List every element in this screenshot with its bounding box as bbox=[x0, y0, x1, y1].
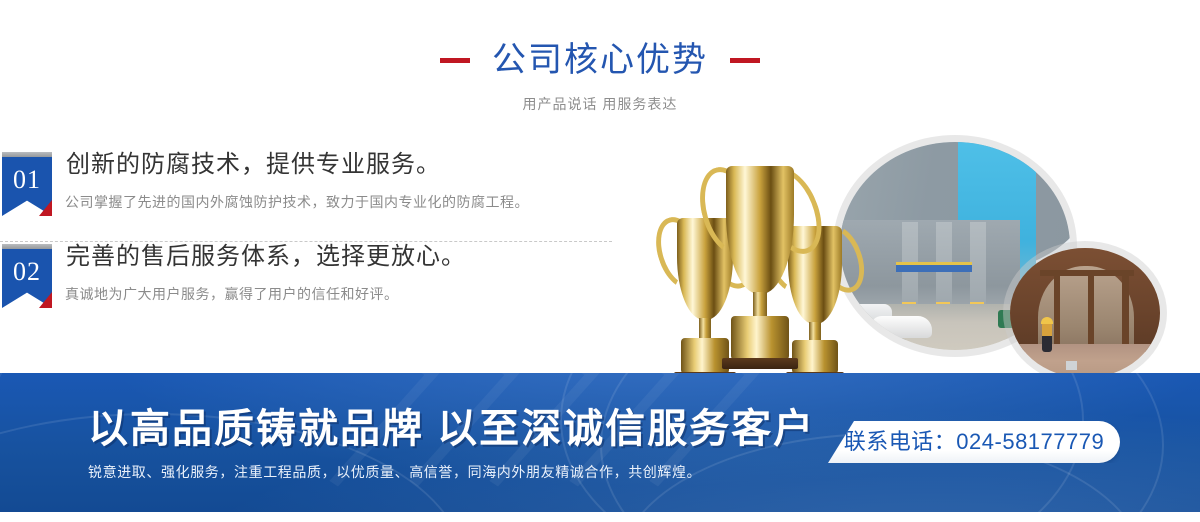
advantages-artwork bbox=[640, 120, 1200, 382]
title-row: 公司核心优势 bbox=[0, 40, 1200, 80]
banner-slogan: 以高品质铸就品牌 以至深诚信服务客户 bbox=[88, 406, 815, 452]
dash-left-icon bbox=[440, 58, 470, 63]
section-header: 公司核心优势 用产品说话 用服务表达 bbox=[0, 40, 1200, 114]
contact-phone-pill[interactable]: 联系电话：024-58177779 bbox=[828, 421, 1120, 463]
company-advantages-section: 公司核心优势 用产品说话 用服务表达 01 创新的防腐技术，提供专业服务。 公司… bbox=[0, 0, 1200, 522]
banner-subtitle: 锐意进取、强化服务，注重工程品质，以优质量、高信誉，同海内外朋友精诚合作，共创辉… bbox=[88, 462, 701, 482]
contact-phone-label: 联系电话： bbox=[844, 429, 957, 454]
trophy-base bbox=[731, 316, 789, 360]
trophy-cup bbox=[726, 166, 794, 294]
feature-description: 公司掌握了先进的国内外腐蚀防护技术，致力于国内专业化的防腐工程。 bbox=[65, 192, 529, 212]
feature-item-02: 02 完善的售后服务体系，选择更放心。 真诚地为广大用户服务，赢得了用户的信任和… bbox=[0, 242, 660, 334]
photo-post bbox=[1054, 276, 1060, 350]
photo-walkway bbox=[896, 262, 972, 272]
contact-phone-text: 联系电话：024-58177779 bbox=[844, 429, 1104, 455]
ribbon-badge-01: 01 bbox=[2, 152, 52, 216]
section-subtitle: 用产品说话 用服务表达 bbox=[0, 94, 1200, 114]
feature-list: 01 创新的防腐技术，提供专业服务。 公司掌握了先进的国内外腐蚀防护技术，致力于… bbox=[0, 150, 660, 334]
badge-number: 02 bbox=[2, 250, 52, 294]
dash-right-icon bbox=[730, 58, 760, 63]
photo-helmet bbox=[1041, 317, 1053, 324]
gold-trophies bbox=[654, 130, 864, 382]
feature-title: 创新的防腐技术，提供专业服务。 bbox=[66, 150, 441, 180]
trophy-stem bbox=[753, 292, 767, 318]
trophy-plinth bbox=[722, 358, 798, 369]
feature-item-01: 01 创新的防腐技术，提供专业服务。 公司掌握了先进的国内外腐蚀防护技术，致力于… bbox=[0, 150, 660, 242]
photo-post bbox=[1088, 276, 1094, 350]
photo-bucket bbox=[1066, 361, 1077, 370]
photo-car bbox=[870, 316, 932, 338]
feature-title: 完善的售后服务体系，选择更放心。 bbox=[66, 242, 466, 272]
contact-phone-number: 024-58177779 bbox=[956, 429, 1104, 454]
photo-worker bbox=[1042, 322, 1052, 352]
trophy-center bbox=[710, 142, 810, 382]
badge-triangle-icon bbox=[39, 292, 52, 308]
ribbon-badge-02: 02 bbox=[2, 244, 52, 308]
feature-description: 真诚地为广大用户服务，赢得了用户的信任和好评。 bbox=[65, 284, 399, 304]
badge-number: 01 bbox=[2, 158, 52, 202]
badge-triangle-icon bbox=[39, 200, 52, 216]
banner-bottom-strip bbox=[0, 512, 1200, 522]
page-title: 公司核心优势 bbox=[492, 40, 708, 80]
tunnel-construction-photo bbox=[1010, 248, 1160, 378]
